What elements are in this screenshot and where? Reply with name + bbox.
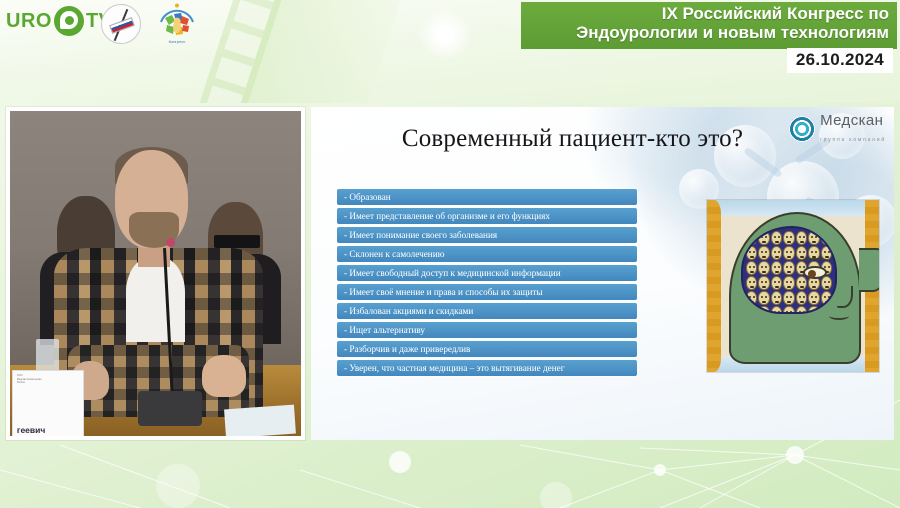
- speaker-video-panel[interactable]: ООО Медскан Клиническая Россия геевич: [6, 107, 305, 440]
- mini-face: [821, 231, 832, 245]
- mini-face: [821, 291, 832, 305]
- list-item: - Имеет понимание своего заболевания: [337, 227, 637, 243]
- head-with-many-faces-illustration: [707, 200, 879, 372]
- mini-face: [746, 246, 757, 260]
- eyebrow-shape: [801, 258, 829, 264]
- event-date-badge: 26.10.2024: [787, 48, 893, 73]
- mini-face: [821, 276, 832, 290]
- speaker-photo: ООО Медскан Клиническая Россия геевич: [10, 111, 301, 436]
- mouth-shape: [829, 312, 849, 320]
- mini-face: [758, 231, 769, 245]
- urotv-logo-uro-text: URO: [6, 10, 52, 33]
- page-header: URO TV Конгресс IX Российский Конгресс п…: [0, 0, 900, 103]
- mini-face: [796, 276, 807, 290]
- presentation-slide: Медскан группа компаний Современный паци…: [311, 107, 894, 440]
- mini-face: [771, 306, 782, 314]
- slide-title: Современный пациент-кто это?: [311, 125, 894, 153]
- microphone-base-icon: [138, 391, 202, 427]
- russian-flag-shape: [109, 17, 135, 34]
- urotv-logo[interactable]: URO TV: [6, 6, 113, 36]
- mini-face: [783, 291, 794, 305]
- congress-title-line2: Эндоурологии и новым технологиям: [529, 23, 889, 42]
- eye-shape: [803, 266, 827, 279]
- nameplate-line-3: Россия: [17, 381, 79, 385]
- mini-face: [771, 276, 782, 290]
- mini-face: [796, 306, 807, 314]
- list-item: - Избалован акциями и скидками: [337, 303, 637, 319]
- congress-colorful-emblem-icon: Конгресс: [155, 2, 199, 46]
- mini-face: [746, 276, 757, 290]
- microphone-head-icon: [166, 238, 175, 247]
- slide-bullet-list: - Образован - Имеет представление об орг…: [337, 189, 637, 379]
- mini-face: [796, 231, 807, 245]
- mini-face: [746, 231, 757, 245]
- illustration-left-border: [707, 200, 721, 372]
- face-profile-shape: [859, 248, 879, 292]
- svg-text:Конгресс: Конгресс: [169, 39, 186, 44]
- speaker-tshirt: [126, 257, 184, 342]
- mini-face: [783, 261, 794, 275]
- mini-face: [808, 291, 819, 305]
- mini-face: [746, 261, 757, 275]
- list-item: - Имеет представление об организме и его…: [337, 208, 637, 224]
- mini-face: [758, 291, 769, 305]
- papers-on-table: [224, 404, 296, 436]
- list-item: - Ищет альтернативу: [337, 322, 637, 338]
- list-item: - Уверен, что частная медицина – это выт…: [337, 360, 637, 376]
- list-item: - Разборчив и даже привередлив: [337, 341, 637, 357]
- glasses-icon: [214, 235, 261, 248]
- congress-title-banner: IX Российский Конгресс по Эндоурологии и…: [521, 2, 897, 49]
- water-glass: [36, 339, 59, 375]
- mini-face: [783, 306, 794, 314]
- mini-face: [771, 261, 782, 275]
- list-item: - Имеет свободный доступ к медицинской и…: [337, 265, 637, 281]
- speaker-hand-right: [202, 355, 246, 397]
- russian-society-emblem-icon: [101, 4, 141, 44]
- mini-face: [771, 246, 782, 260]
- mini-face: [808, 231, 819, 245]
- list-item: - Имеет своё мнение и права и способы их…: [337, 284, 637, 300]
- mini-face: [758, 276, 769, 290]
- mini-face: [783, 231, 794, 245]
- mini-face: [771, 231, 782, 245]
- nameplate-name-text: геевич: [17, 425, 45, 435]
- congress-title-line1: IX Российский Конгресс по: [529, 4, 889, 23]
- list-item: - Склонен к самолечению: [337, 246, 637, 262]
- header-glow-decoration: [418, 8, 472, 62]
- mini-face: [771, 291, 782, 305]
- urotv-leaf-mark-icon: [54, 6, 84, 36]
- mini-face: [746, 291, 757, 305]
- speaker-nameplate: ООО Медскан Клиническая Россия геевич: [13, 371, 83, 436]
- mini-face: [796, 291, 807, 305]
- mini-face: [783, 276, 794, 290]
- list-item: - Образован: [337, 189, 637, 205]
- mini-face: [758, 246, 769, 260]
- mini-face: [783, 246, 794, 260]
- page-root: URO TV Конгресс IX Российский Конгресс п…: [0, 0, 900, 508]
- mini-face: [758, 261, 769, 275]
